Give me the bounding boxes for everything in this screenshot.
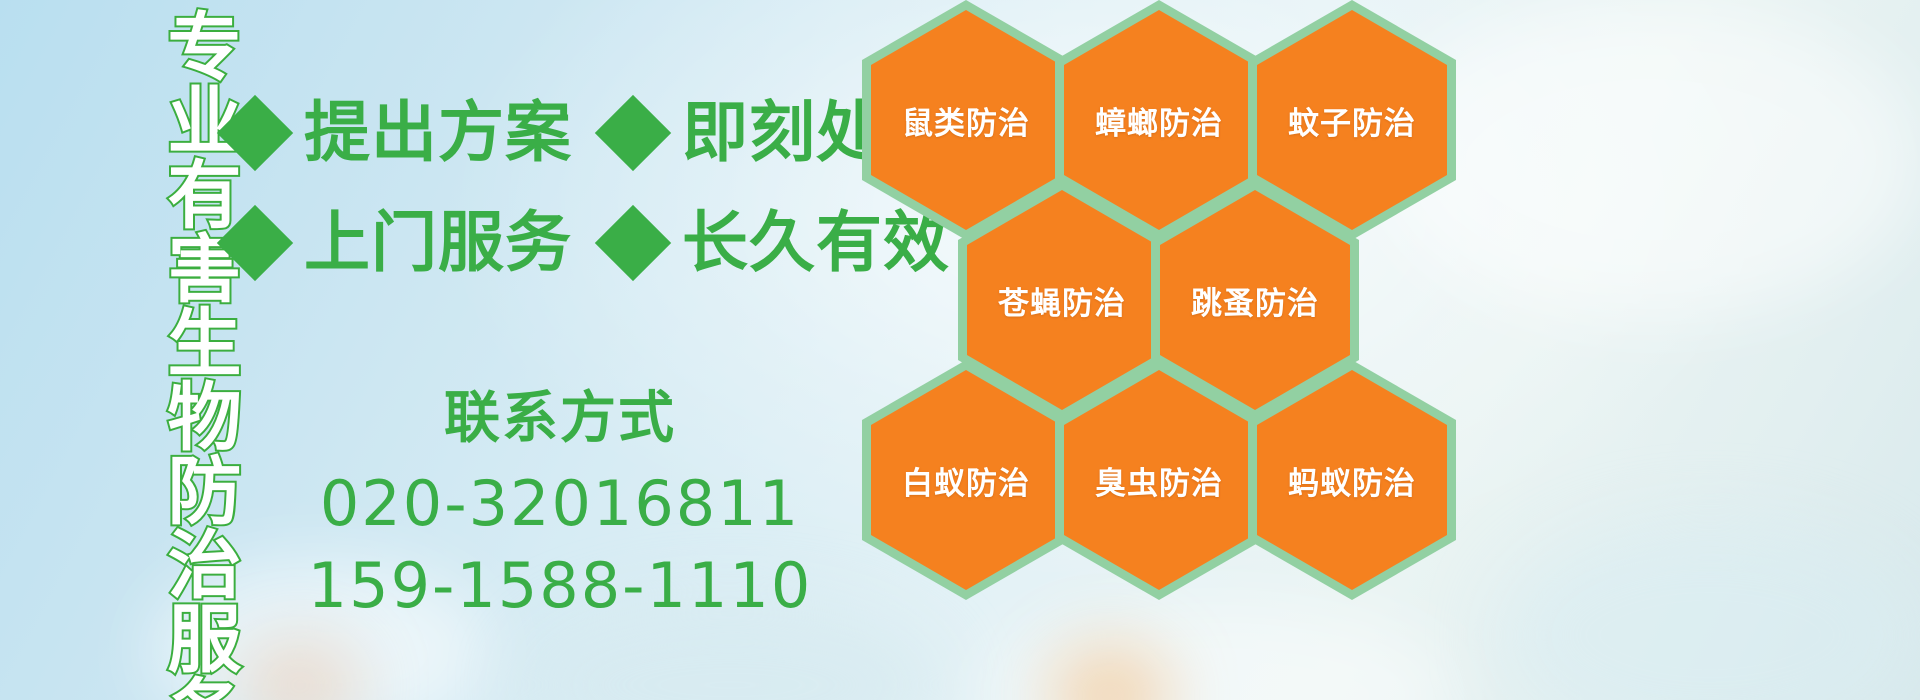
diamond-icon: [595, 205, 671, 281]
feature-row: 上门服务 长久有效: [228, 188, 868, 298]
contact-phone-landline[interactable]: 020-32016811: [270, 463, 850, 545]
promo-banner: 专业有害生物防治服务 提出方案 即刻处理 上门服务 长久有效 联系方式: [0, 0, 1920, 700]
feature-item-propose-plan: 提出方案: [228, 100, 572, 166]
hex-label: 鼠类防治: [902, 98, 1030, 143]
hex-label: 蚂蚁防治: [1288, 458, 1416, 503]
feature-label: 上门服务: [304, 210, 572, 276]
background-haze: [240, 640, 360, 700]
feature-list: 提出方案 即刻处理 上门服务 长久有效: [228, 78, 868, 298]
feature-item-door-to-door-service: 上门服务: [228, 210, 572, 276]
contact-block: 联系方式 020-32016811 159-1588-1110: [270, 390, 850, 626]
background-haze: [1500, 520, 1920, 700]
diamond-icon: [217, 205, 293, 281]
contact-heading: 联系方式: [270, 390, 850, 449]
hex-label: 臭虫防治: [1095, 458, 1223, 503]
diamond-icon: [217, 95, 293, 171]
hex-label: 白蚁防治: [902, 458, 1030, 503]
service-honeycomb: 鼠类防治 蟑螂防治 蚊子防治 苍蝇防治 跳蚤防治 白蚁防治 臭虫防治: [862, 0, 1472, 700]
hex-label: 跳蚤防治: [1191, 278, 1319, 323]
vertical-headline: 专业有害生物防治服务: [104, 8, 232, 578]
feature-label: 提出方案: [304, 100, 572, 166]
contact-phone-mobile[interactable]: 159-1588-1110: [270, 545, 850, 627]
hex-label: 苍蝇防治: [998, 278, 1126, 323]
feature-row: 提出方案 即刻处理: [228, 78, 868, 188]
diamond-icon: [595, 95, 671, 171]
hex-label: 蚊子防治: [1288, 98, 1416, 143]
hex-label: 蟑螂防治: [1095, 98, 1223, 143]
